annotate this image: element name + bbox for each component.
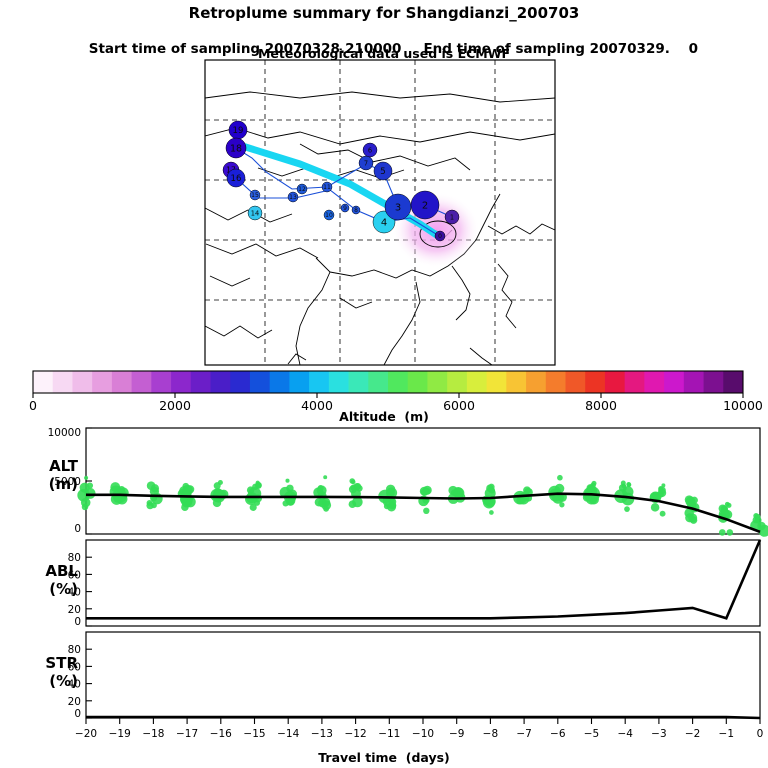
alt-scatter-point (557, 475, 563, 481)
alt-scatter-point (286, 485, 293, 492)
x-axis-label: Travel time (days) (0, 750, 768, 765)
colorbar-swatch (467, 371, 487, 393)
alt-scatter-point (318, 499, 327, 508)
colorbar-swatch (585, 371, 605, 393)
alt-scatter-point (384, 503, 390, 509)
colorbar-swatch (605, 371, 625, 393)
day-marker-label: 7 (364, 159, 368, 167)
day-marker: 8 (352, 206, 360, 214)
str-plot-frame (86, 632, 760, 718)
day-marker: 10 (324, 210, 334, 220)
day-marker-label: 14 (251, 209, 259, 217)
alt-scatter-point (85, 488, 96, 499)
day-marker: 9 (341, 204, 349, 212)
day-marker-label: 13 (289, 194, 297, 201)
colorbar-swatch (151, 371, 171, 393)
colorbar-swatch (546, 371, 566, 393)
day-marker: 7 (359, 156, 373, 170)
colorbar-swatch (704, 371, 724, 393)
x-tick-label: 0 (757, 728, 764, 740)
alt-y-tick-label: 10000 (48, 427, 81, 439)
colorbar-swatch (72, 371, 92, 393)
colorbar-swatch (526, 371, 546, 393)
colorbar-swatch (33, 371, 53, 393)
x-tick-label: −10 (412, 728, 434, 740)
day-marker-label: 18 (230, 143, 242, 154)
day-marker-label: 2 (422, 201, 428, 212)
day-marker-label: 12 (298, 186, 306, 193)
alt-scatter-point (685, 513, 694, 522)
x-tick-label: −6 (550, 728, 566, 740)
day-marker-label: 8 (354, 207, 358, 214)
alt-scatter-point (349, 500, 357, 508)
colorbar-swatch (191, 371, 211, 393)
abl-panel-label-1: ABL (0, 562, 78, 580)
colorbar-swatch (664, 371, 684, 393)
alt-scatter-point (285, 479, 289, 483)
alt-scatter-point (182, 485, 193, 496)
alt-panel-label-1: ALT (0, 457, 78, 475)
day-marker: 6 (363, 143, 377, 157)
colorbar-swatch (289, 371, 309, 393)
x-tick-label: −15 (243, 728, 265, 740)
colorbar-swatch (132, 371, 152, 393)
x-tick-label: −18 (142, 728, 164, 740)
day-marker: 5 (374, 162, 392, 180)
alt-scatter-point (287, 499, 294, 506)
x-tick-label: −20 (75, 728, 97, 740)
x-axis-ticks: −20−19−18−17−16−15−14−13−12−11−10−9−8−7−… (75, 718, 763, 740)
alt-scatter-point (660, 511, 666, 517)
colorbar-swatch (408, 371, 428, 393)
day-marker-label: 11 (323, 184, 331, 191)
x-tick-label: −11 (378, 728, 400, 740)
colorbar-swatch (368, 371, 388, 393)
colorbar-swatch (53, 371, 73, 393)
alt-scatter-point (489, 510, 494, 515)
str-y-tick-label: 20 (68, 696, 81, 708)
str-y-tick-label: 0 (74, 708, 81, 720)
alt-scatter-point (423, 508, 429, 514)
day-marker: 11 (322, 182, 332, 192)
x-tick-label: −12 (345, 728, 367, 740)
x-tick-label: −8 (483, 728, 498, 740)
colorbar-swatches (33, 371, 743, 393)
colorbar-swatch (112, 371, 132, 393)
abl-plot-frame (86, 540, 760, 626)
alt-scatter-point (349, 478, 355, 484)
x-tick-label: −19 (109, 728, 131, 740)
colorbar-swatch (684, 371, 704, 393)
x-tick-label: −1 (719, 728, 734, 740)
colorbar-swatch (270, 371, 290, 393)
alt-plot-frame (86, 428, 760, 534)
day-marker-label: 0 (438, 233, 442, 240)
alt-scatter-point (624, 506, 630, 512)
abl-panel-label-2: (%) (0, 580, 78, 598)
retroplume-summary-figure: Retroplume summary for Shangdianzi_20070… (0, 0, 768, 768)
x-tick-label: −2 (685, 728, 700, 740)
map-panel: 191817161514131211109876543210 (0, 58, 768, 368)
alt-scatter-point (726, 503, 731, 508)
day-marker: 19 (229, 121, 247, 139)
x-tick-label: −5 (584, 728, 599, 740)
alt-scatter-point (118, 486, 125, 493)
timeseries-panels: 0500010000 020406080 020406080 −20−19−18… (0, 424, 768, 764)
alt-scatter-point (719, 529, 726, 536)
str-panel-label-1: STR (0, 654, 78, 672)
colorbar-swatch (329, 371, 349, 393)
str-line (86, 717, 760, 718)
alt-scatter-point (661, 483, 665, 487)
alt-scatter-point (591, 481, 596, 486)
colorbar-axis-label: Altitude (m) (0, 409, 768, 424)
alt-panel-label-2: (m) (0, 475, 78, 493)
colorbar-swatch (250, 371, 270, 393)
day-marker-label: 5 (380, 167, 385, 177)
alt-scatter-point (214, 482, 221, 489)
day-marker-label: 19 (233, 126, 244, 136)
day-marker: 15 (250, 190, 260, 200)
alt-scatter-point (651, 503, 660, 512)
colorbar-swatch (447, 371, 467, 393)
day-marker: 13 (288, 192, 298, 202)
alt-scatter-point (621, 480, 626, 485)
day-marker: 2 (411, 191, 439, 219)
alt-scatter-point (451, 489, 458, 496)
alt-scatter-point (757, 522, 765, 530)
colorbar-swatch (349, 371, 369, 393)
colorbar-swatch (230, 371, 250, 393)
abl-y-tick-label: 20 (68, 604, 81, 616)
alt-scatter-point (354, 483, 361, 490)
colorbar-swatch (427, 371, 447, 393)
colorbar-swatch (211, 371, 231, 393)
alt-scatter-point (685, 497, 695, 507)
day-marker-label: 1 (450, 213, 454, 221)
day-marker: 3 (385, 194, 411, 220)
day-marker: 16 (227, 169, 245, 187)
alt-scatter-point (548, 486, 561, 499)
colorbar-swatch (171, 371, 191, 393)
page-title: Retroplume summary for Shangdianzi_20070… (0, 4, 768, 22)
alt-scatter-point (753, 513, 759, 519)
x-tick-label: −13 (311, 728, 333, 740)
colorbar-swatch (487, 371, 507, 393)
day-marker: 14 (248, 206, 262, 220)
alt-scatter-point (386, 489, 395, 498)
alt-scatter-point (81, 498, 91, 508)
alt-scatter-point (323, 475, 327, 479)
alt-scatter-point (658, 489, 666, 497)
alt-scatter-point (420, 487, 429, 496)
day-marker: 1 (445, 210, 459, 224)
colorbar-swatch (388, 371, 408, 393)
alt-y-tick-label: 0 (74, 523, 81, 535)
alt-scatter-point (256, 482, 261, 487)
day-marker-label: 10 (325, 212, 333, 219)
colorbar-swatch (625, 371, 645, 393)
abl-y-tick-label: 0 (74, 616, 81, 628)
x-tick-label: −7 (516, 728, 531, 740)
alt-scatter-point (727, 529, 734, 536)
x-tick-label: −4 (617, 728, 633, 740)
colorbar-swatch (92, 371, 112, 393)
alt-scatter-point (84, 476, 88, 480)
colorbar-swatch (506, 371, 526, 393)
day-marker-label: 3 (395, 203, 401, 214)
colorbar-swatch (723, 371, 743, 393)
x-tick-label: −9 (449, 728, 464, 740)
day-marker: 12 (297, 184, 307, 194)
day-marker: 18 (226, 138, 246, 158)
x-tick-label: −17 (176, 728, 198, 740)
x-tick-label: −3 (651, 728, 666, 740)
day-marker-label: 15 (251, 192, 259, 199)
day-marker-label: 6 (368, 146, 372, 154)
alt-scatter-point (147, 481, 156, 490)
colorbar-swatch (309, 371, 329, 393)
day-marker: 0 (435, 231, 445, 241)
x-tick-label: −14 (277, 728, 299, 740)
day-marker-label: 16 (231, 174, 242, 184)
colorbar-swatch (566, 371, 586, 393)
x-tick-label: −16 (210, 728, 232, 740)
day-marker-label: 4 (381, 218, 387, 229)
str-panel-label-2: (%) (0, 672, 78, 690)
day-marker-label: 9 (343, 205, 347, 212)
colorbar-swatch (644, 371, 664, 393)
alt-scatter-point (248, 487, 261, 500)
